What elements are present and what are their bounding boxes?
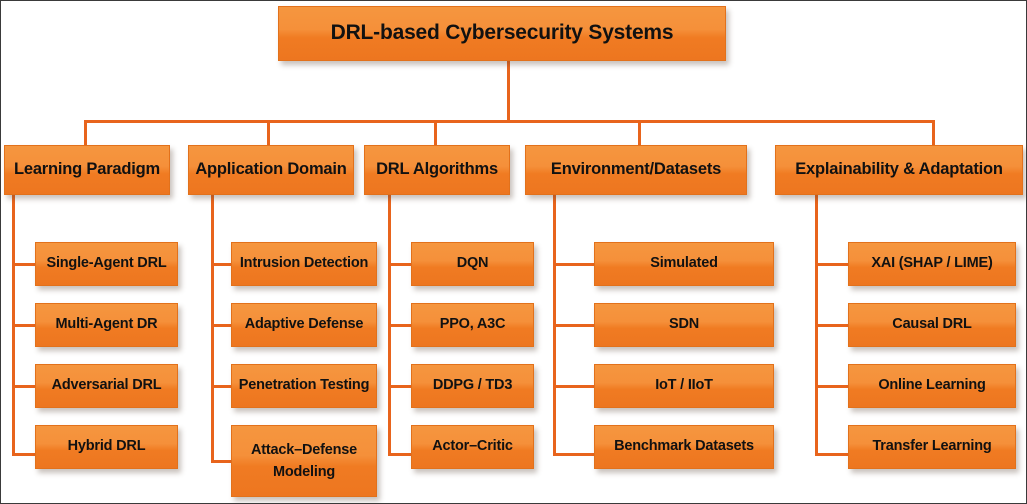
branch-node-label: Explainability & Adaptation [795,160,1003,179]
leaf-node-ppo-a3c[interactable]: PPO, A3C [411,303,534,347]
leaf-node-label: SDN [669,316,699,333]
connector-drop-3 [434,120,437,146]
root-node-label: DRL-based Cybersecurity Systems [331,21,674,46]
leaf-node-label: Single-Agent DRL [46,255,166,272]
leaf-node-ddpg-td3[interactable]: DDPG / TD3 [411,364,534,408]
connector-drop-5 [932,120,935,146]
connector-stub-2-1 [211,263,232,266]
connector-stub-1-1 [12,263,36,266]
leaf-node-multi-agent-dr[interactable]: Multi-Agent DR [35,303,178,347]
leaf-node-hybrid-drl[interactable]: Hybrid DRL [35,425,178,469]
connector-stub-5-3 [815,385,849,388]
leaf-node-label: Hybrid DRL [68,438,146,455]
leaf-node-label: Simulated [650,255,718,272]
leaf-node-actor-critic[interactable]: Actor–Critic [411,425,534,469]
connector-stub-3-1 [388,263,412,266]
branch-node-label: DRL Algorithms [376,160,498,179]
branch-node-learning-paradigm[interactable]: Learning Paradigm [4,145,170,195]
connector-stub-3-2 [388,324,412,327]
leaf-node-label: XAI (SHAP / LIME) [871,255,992,272]
branch-node-application-domain[interactable]: Application Domain [188,145,354,195]
leaf-node-adaptive-defense[interactable]: Adaptive Defense [231,303,377,347]
leaf-node-transfer-learning[interactable]: Transfer Learning [848,425,1016,469]
leaf-node-label: PPO, A3C [440,316,506,333]
branch-node-label: Environment/Datasets [551,160,721,179]
leaf-node-sdn[interactable]: SDN [594,303,774,347]
branch-node-drl-algorithms[interactable]: DRL Algorithms [364,145,510,195]
leaf-node-label: DQN [457,255,489,272]
connector-stub-3-4 [388,453,412,456]
connector-drop-4 [638,120,641,146]
leaf-node-attack-defense-modeling[interactable]: Attack–Defense Modeling [231,425,377,497]
connector-stub-2-3 [211,385,232,388]
leaf-node-single-agent-drl[interactable]: Single-Agent DRL [35,242,178,286]
root-node-drl-based-cybersecurity-systems[interactable]: DRL-based Cybersecurity Systems [278,6,726,61]
connector-stub-1-4 [12,453,36,456]
leaf-node-intrusion-detection[interactable]: Intrusion Detection [231,242,377,286]
leaf-node-causal-drl[interactable]: Causal DRL [848,303,1016,347]
leaf-node-label: Benchmark Datasets [614,438,754,455]
leaf-node-label: Adaptive Defense [245,316,363,333]
connector-root-stem [507,60,510,122]
connector-stub-5-4 [815,453,849,456]
connector-stub-2-4 [211,460,232,463]
connector-stub-5-1 [815,263,849,266]
connector-stub-5-2 [815,324,849,327]
connector-root-bus [84,120,935,123]
leaf-node-penetration-testing[interactable]: Penetration Testing [231,364,377,408]
branch-node-label: Application Domain [195,160,346,179]
connector-stub-4-2 [553,324,595,327]
leaf-node-label: Adversarial DRL [52,377,162,394]
branch-node-label: Learning Paradigm [14,160,160,179]
connector-spine-2 [211,194,214,463]
taxonomy-diagram: DRL-based Cybersecurity Systems Learning… [0,0,1027,504]
connector-stub-3-3 [388,385,412,388]
connector-drop-1 [84,120,87,146]
branch-node-explainability-adaptation[interactable]: Explainability & Adaptation [775,145,1023,195]
leaf-node-label: Intrusion Detection [240,255,368,272]
connector-drop-2 [267,120,270,146]
connector-stub-1-2 [12,324,36,327]
connector-stub-4-4 [553,453,595,456]
connector-stub-4-1 [553,263,595,266]
leaf-node-label: Actor–Critic [432,438,513,455]
leaf-node-label: Online Learning [878,377,985,394]
leaf-node-simulated[interactable]: Simulated [594,242,774,286]
connector-stub-1-3 [12,385,36,388]
leaf-node-label: Multi-Agent DR [56,316,158,333]
leaf-node-xai-shap-lime[interactable]: XAI (SHAP / LIME) [848,242,1016,286]
leaf-node-benchmark-datasets[interactable]: Benchmark Datasets [594,425,774,469]
leaf-node-label: IoT / IIoT [655,377,713,394]
leaf-node-label: Transfer Learning [872,438,991,455]
leaf-node-label: DDPG / TD3 [433,377,512,394]
connector-stub-4-3 [553,385,595,388]
leaf-node-dqn[interactable]: DQN [411,242,534,286]
leaf-node-iot-iiot[interactable]: IoT / IIoT [594,364,774,408]
leaf-node-online-learning[interactable]: Online Learning [848,364,1016,408]
leaf-node-label: Attack–Defense Modeling [236,439,372,484]
leaf-node-adversarial-drl[interactable]: Adversarial DRL [35,364,178,408]
leaf-node-label: Penetration Testing [239,377,369,394]
branch-node-environment-datasets[interactable]: Environment/Datasets [525,145,747,195]
leaf-node-label: Causal DRL [892,316,971,333]
connector-stub-2-2 [211,324,232,327]
